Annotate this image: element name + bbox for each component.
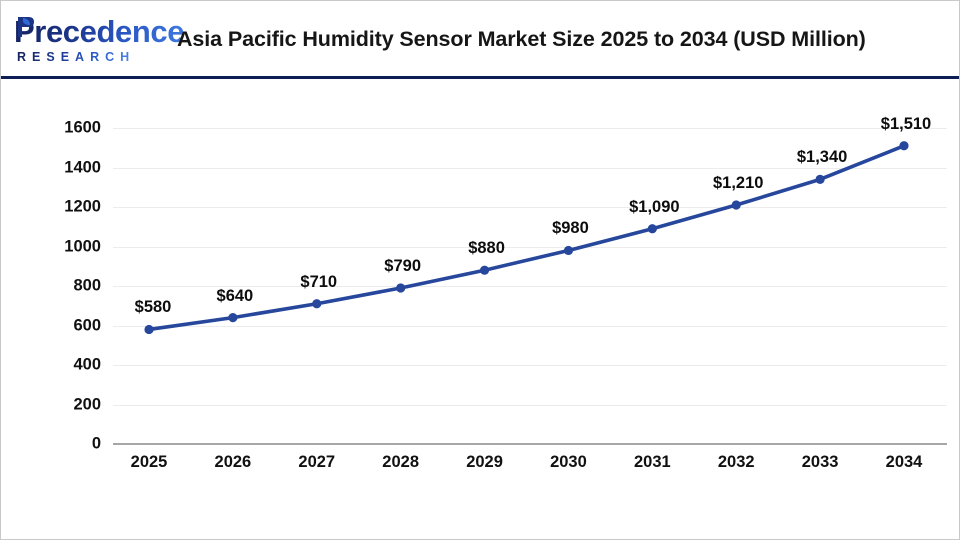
data-point-marker (480, 266, 489, 275)
data-point-marker (899, 141, 908, 150)
data-point-marker (144, 325, 153, 334)
data-point-label: $1,210 (713, 174, 763, 193)
data-point-label: $710 (300, 273, 337, 292)
data-point-label: $1,510 (881, 115, 931, 134)
data-point-label: $1,340 (797, 148, 847, 167)
data-point-marker (228, 313, 237, 322)
plot-area: 02004006008001000120014001600 2025202620… (1, 79, 959, 539)
data-point-marker (732, 200, 741, 209)
series-markers (144, 141, 908, 334)
data-point-marker (564, 246, 573, 255)
data-point-marker (648, 224, 657, 233)
chart-image: Precedence RESEARCH Asia Pacific Humidit… (0, 0, 960, 540)
data-point-marker (816, 175, 825, 184)
data-point-marker (396, 283, 405, 292)
page-title: Asia Pacific Humidity Sensor Market Size… (177, 27, 947, 52)
data-point-label: $790 (384, 257, 421, 276)
logo-wordmark: Precedence (14, 15, 184, 49)
data-point-marker (312, 299, 321, 308)
chart-header: Precedence RESEARCH Asia Pacific Humidit… (1, 1, 960, 79)
data-point-label: $640 (217, 287, 254, 306)
data-point-label: $580 (135, 298, 172, 317)
data-point-label: $880 (468, 239, 505, 258)
leaf-mark-icon (16, 16, 35, 38)
precedence-research-logo: Precedence RESEARCH (14, 15, 166, 67)
series-line (149, 146, 904, 330)
data-point-label: $1,090 (629, 198, 679, 217)
logo-subtitle: RESEARCH (17, 50, 135, 64)
data-point-label: $980 (552, 219, 589, 238)
